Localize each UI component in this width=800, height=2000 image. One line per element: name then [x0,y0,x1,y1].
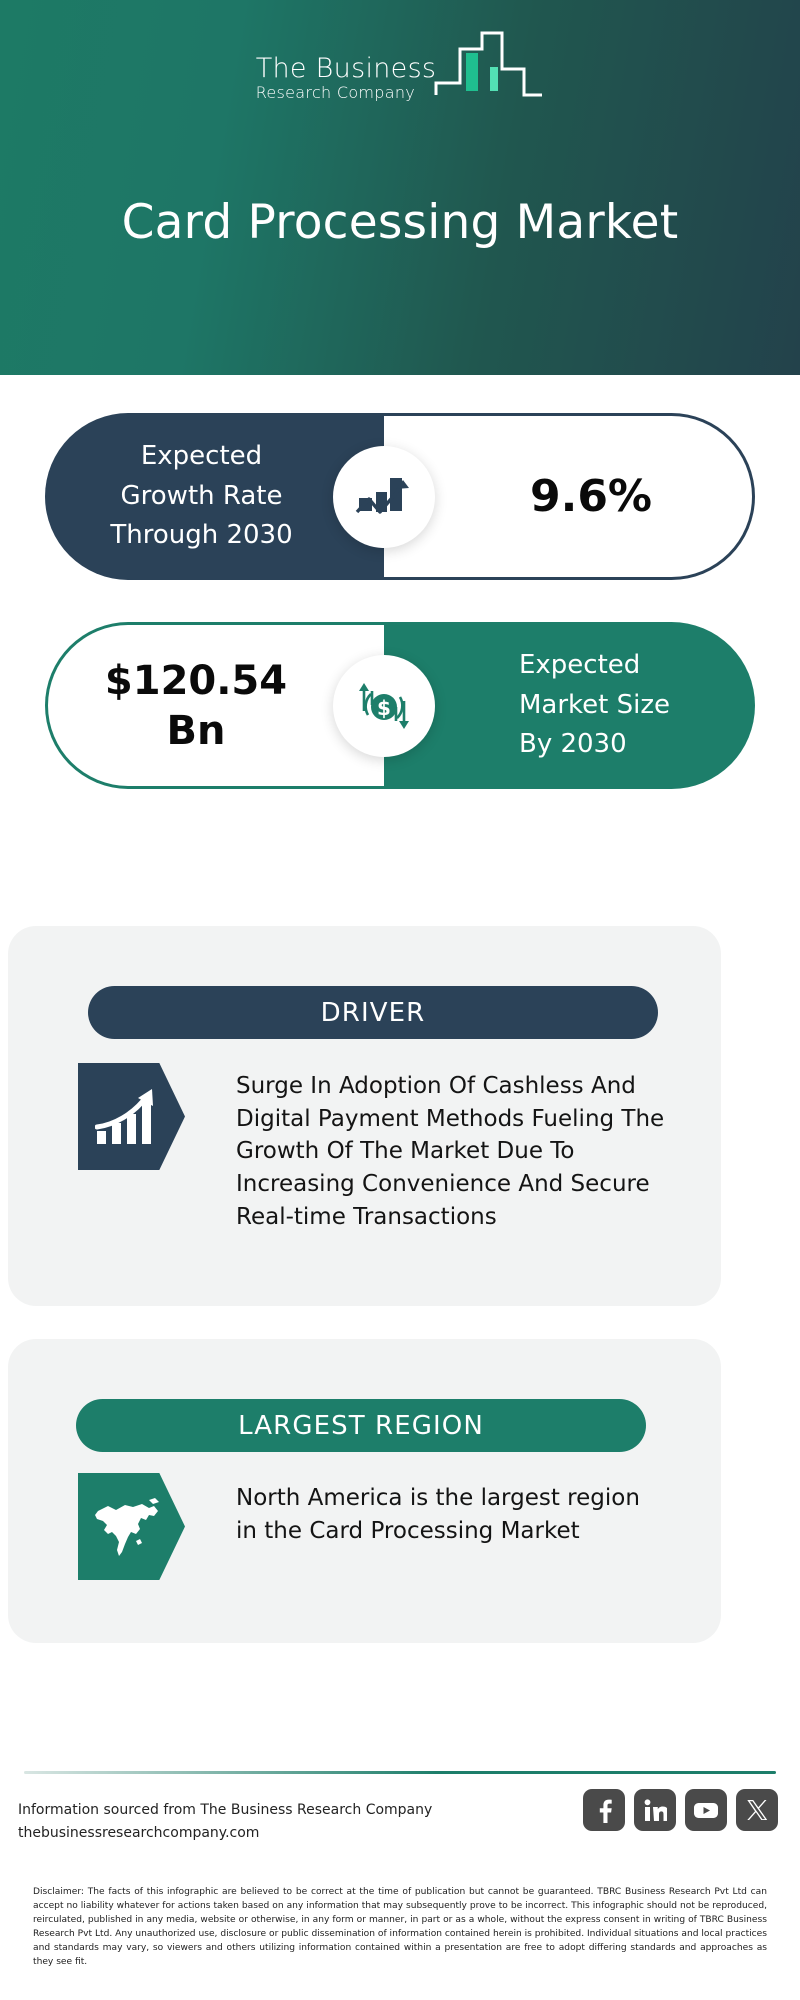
market-size-value: $120.54 Bn [105,656,287,756]
linkedin-icon[interactable] [634,1789,676,1831]
driver-pill-label: DRIVER [321,998,426,1028]
source-line-1: Information sourced from The Business Re… [18,1799,432,1822]
x-twitter-icon[interactable] [736,1789,778,1831]
growth-rate-value: 9.6% [530,471,652,522]
source-website[interactable]: thebusinessresearchcompany.com [18,1822,432,1845]
growth-label-line-2: Growth Rate [121,481,283,511]
market-size-label: Expected Market Size By 2030 [519,646,670,765]
market-size-value-line-2: Bn [167,708,226,754]
growth-rate-label: Expected Growth Rate Through 2030 [110,437,292,556]
market-size-label-line-3: By 2030 [519,729,627,759]
largest-region-pill: LARGEST REGION [76,1399,646,1452]
market-size-card: $120.54 Bn Expected Market Size By 2030 … [45,622,755,789]
driver-pill: DRIVER [88,986,658,1039]
dollar-cycle-icon: $ [333,655,435,757]
driver-body-text: Surge In Adoption Of Cashless And Digita… [236,1070,666,1233]
company-logo: The Business Research Company [0,25,800,108]
market-size-label-panel: Expected Market Size By 2030 [384,622,755,789]
growth-chart-arrow-icon [333,446,435,548]
page-title: Card Processing Market [0,195,800,250]
largest-region-pill-label: LARGEST REGION [238,1411,484,1441]
header-banner: The Business Research Company Card Proce… [0,0,800,375]
logo-line-1: The Business [256,55,437,83]
youtube-icon[interactable] [685,1789,727,1831]
growth-label-line-3: Through 2030 [110,520,292,550]
disclaimer-text: Disclaimer: The facts of this infographi… [33,1885,767,1970]
bar-chart-logo-mark [434,25,544,108]
footer-divider [24,1771,776,1774]
source-attribution: Information sourced from The Business Re… [18,1799,432,1844]
growth-label-line-1: Expected [141,441,262,471]
social-links [583,1789,778,1831]
market-size-label-line-1: Expected [519,650,640,680]
market-size-label-line-2: Market Size [519,690,670,720]
logo-line-2: Research Company [256,83,437,104]
facebook-icon[interactable] [583,1789,625,1831]
market-size-value-line-1: $120.54 [105,658,287,704]
growth-rate-card: Expected Growth Rate Through 2030 9.6% [45,413,755,580]
svg-text:$: $ [377,696,391,720]
growth-rate-value-panel: 9.6% [384,413,755,580]
largest-region-body-text: North America is the largest region in t… [236,1482,666,1547]
